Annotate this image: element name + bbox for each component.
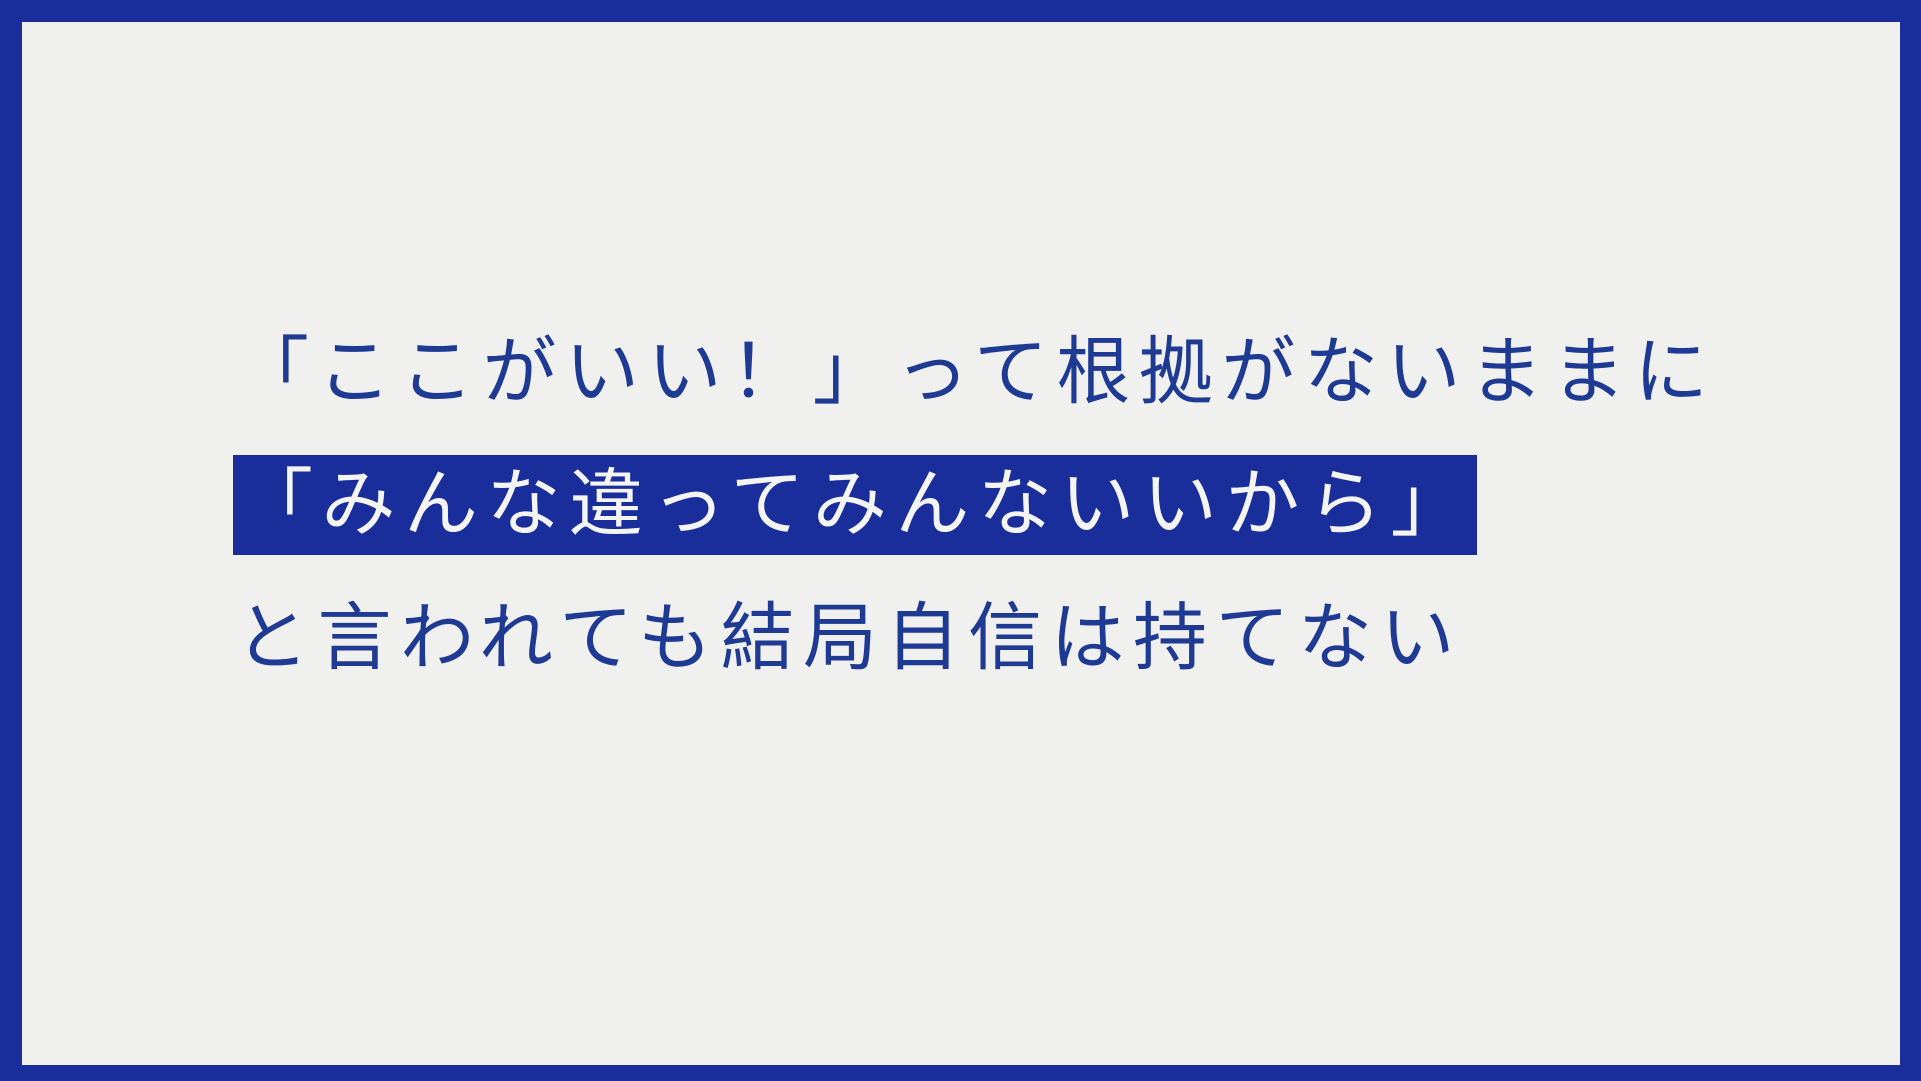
slide-frame: 「ここがいい！」って根拠がないままに 「みんな違ってみんないいから」 と言われて… bbox=[0, 0, 1921, 1081]
quote-line-2-highlight: 「みんな違ってみんないいから」 bbox=[233, 455, 1477, 555]
quote-block: 「ここがいい！」って根拠がないままに 「みんな違ってみんないいから」 と言われて… bbox=[233, 322, 1793, 688]
quote-line-3: と言われても結局自信は持てない bbox=[233, 588, 1793, 688]
slide-canvas: 「ここがいい！」って根拠がないままに 「みんな違ってみんないいから」 と言われて… bbox=[22, 22, 1900, 1065]
quote-line-2: 「みんな違ってみんないいから」 bbox=[233, 454, 1793, 555]
quote-line-1: 「ここがいい！」って根拠がないままに bbox=[233, 322, 1793, 422]
